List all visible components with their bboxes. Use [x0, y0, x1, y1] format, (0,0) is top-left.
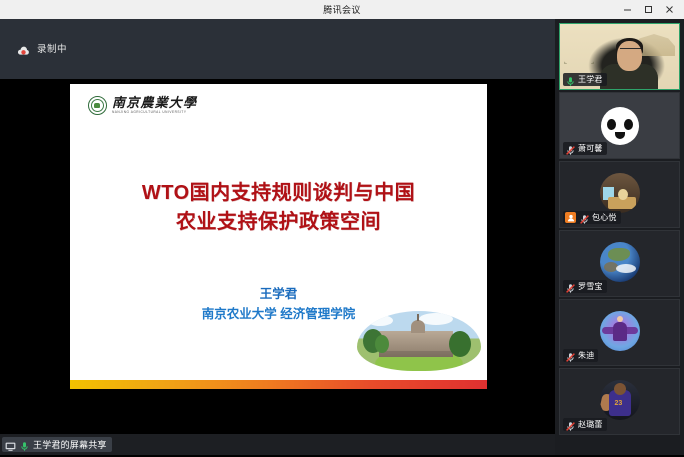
window-controls [617, 0, 680, 19]
mic-muted-icon [565, 350, 576, 361]
recording-label: 录制中 [37, 41, 67, 55]
recording-indicator[interactable]: 录制中 [17, 41, 67, 55]
participant-name: 包心悦 [592, 212, 617, 223]
participant-tile[interactable]: 23 赵璐蕾 [559, 368, 680, 435]
participant-name: 罗雪宝 [578, 281, 603, 292]
slide-title: WTO国内支持规则谈判与中国 农业支持保护政策空间 [70, 179, 487, 237]
mic-muted-icon [565, 143, 576, 154]
slide-footer-gradient-bar [70, 379, 487, 389]
participant-rail[interactable]: 王学君 萧可馨 [555, 19, 684, 455]
share-status-pill[interactable]: 王学君的屏幕共享 [2, 437, 112, 452]
participant-name: 赵璐蕾 [578, 419, 603, 430]
participant-nametag: 罗雪宝 [563, 280, 607, 293]
cloud-record-icon [17, 43, 30, 53]
participant-nametag: 萧可馨 [563, 142, 607, 155]
window-titlebar: 腾讯会议 [0, 0, 684, 20]
participant-tile[interactable]: 朱迪 [559, 299, 680, 366]
mic-on-icon [19, 439, 30, 450]
participant-name: 萧可馨 [578, 143, 603, 154]
host-badge-icon [565, 212, 576, 223]
maximize-button[interactable] [638, 0, 659, 19]
screen-share-icon [5, 439, 16, 450]
participant-tile[interactable]: 萧可馨 [559, 92, 680, 159]
slide-title-line-1: WTO国内支持规则谈判与中国 [70, 179, 487, 208]
participant-nametag: 赵璐蕾 [563, 418, 607, 431]
participant-nametag: 王学君 [563, 73, 607, 86]
participant-nametag: 包心悦 [563, 211, 621, 224]
mic-muted-icon [565, 419, 576, 430]
participant-name: 朱迪 [578, 350, 594, 361]
tencent-meeting-window: 腾讯会议 录制中 [0, 0, 684, 455]
participant-name: 王学君 [578, 74, 603, 85]
participant-tile[interactable]: 包心悦 [559, 161, 680, 228]
slide-title-line-2: 农业支持保护政策空间 [70, 208, 487, 237]
close-button[interactable] [659, 0, 680, 19]
mic-muted-icon [565, 281, 576, 292]
participant-tile[interactable]: 王学君 [559, 23, 680, 90]
participant-nametag: 朱迪 [563, 349, 598, 362]
university-name-cn: 南京農業大學 [112, 96, 197, 109]
university-logo: 南京農業大學 NANJING AGRICULTURAL UNIVERSITY [88, 96, 197, 115]
presentation-slide: 南京農業大學 NANJING AGRICULTURAL UNIVERSITY W… [70, 84, 487, 389]
participant-tile[interactable]: 罗雪宝 [559, 230, 680, 297]
mic-muted-icon [579, 212, 590, 223]
university-name-en: NANJING AGRICULTURAL UNIVERSITY [112, 111, 197, 114]
university-seal-icon [88, 96, 107, 115]
shared-screen-stage[interactable]: 南京農業大學 NANJING AGRICULTURAL UNIVERSITY W… [0, 79, 555, 434]
share-status-bar: 王学君的屏幕共享 [0, 434, 555, 455]
mic-on-icon [565, 74, 576, 85]
window-title: 腾讯会议 [323, 3, 361, 16]
share-status-label: 王学君的屏幕共享 [33, 438, 107, 451]
slide-author-name: 王学君 [70, 284, 487, 304]
minimize-button[interactable] [617, 0, 638, 19]
meeting-toolbar: 录制中 [0, 19, 555, 79]
